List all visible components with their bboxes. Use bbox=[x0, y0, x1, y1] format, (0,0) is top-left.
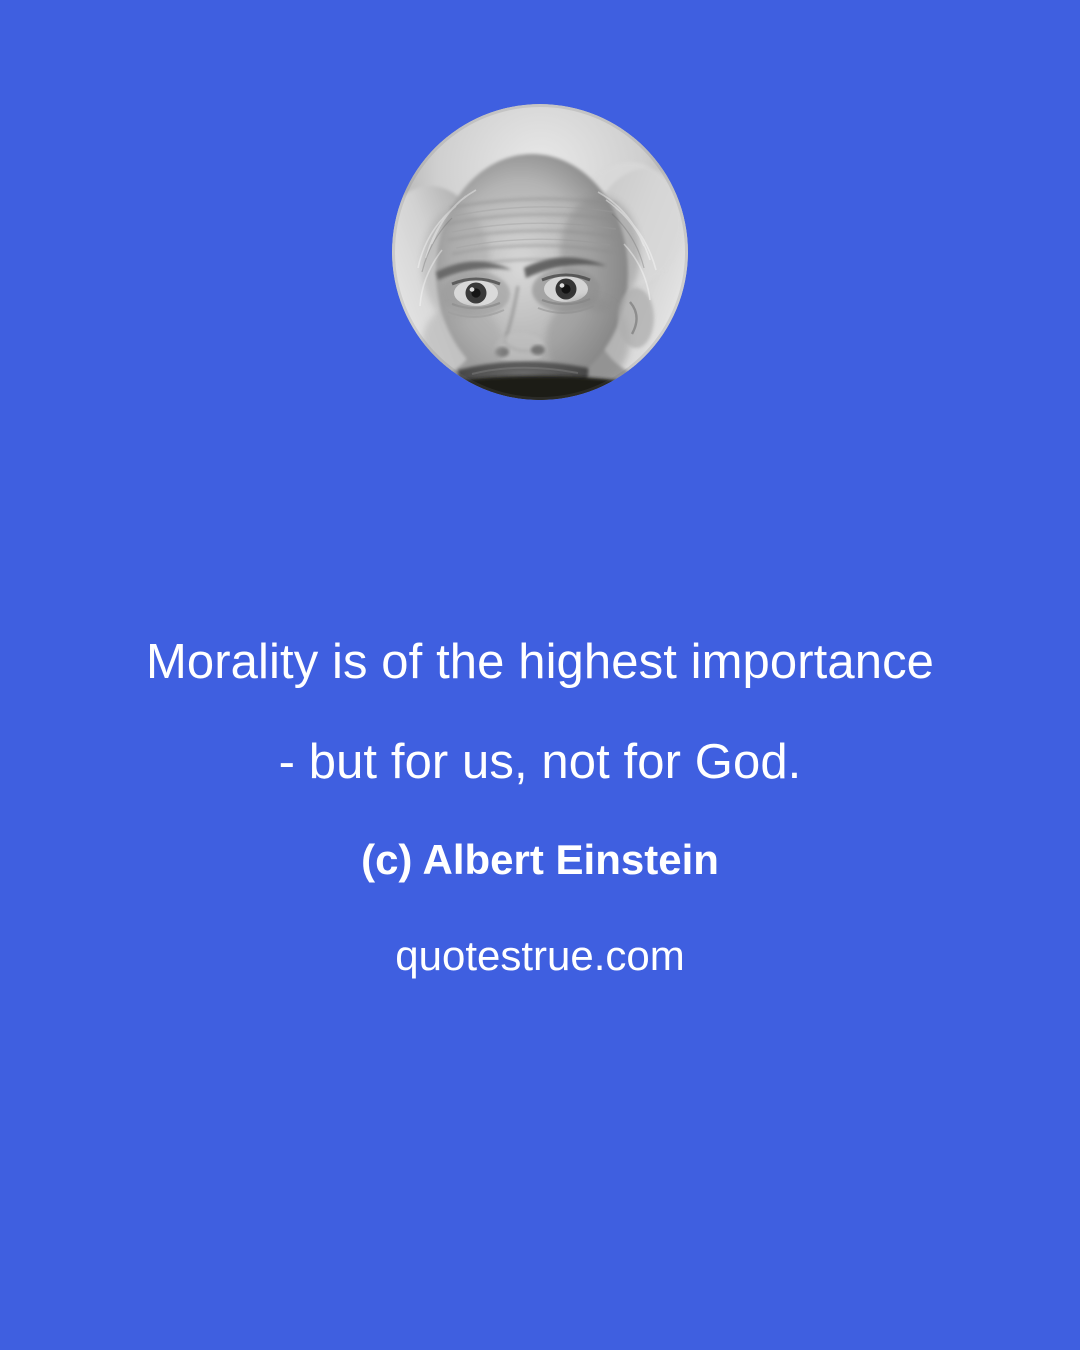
portrait-container bbox=[392, 104, 688, 400]
website-credit: quotestrue.com bbox=[0, 908, 1080, 1004]
quote-line-1: Morality is of the highest importance bbox=[0, 612, 1080, 712]
quote-line-2: - but for us, not for God. bbox=[0, 712, 1080, 812]
quote-attribution: (c) Albert Einstein bbox=[0, 812, 1080, 908]
quote-text-block: Morality is of the highest importance - … bbox=[0, 612, 1080, 1004]
albert-einstein-portrait bbox=[392, 104, 688, 400]
quote-card: Morality is of the highest importance - … bbox=[0, 0, 1080, 1350]
